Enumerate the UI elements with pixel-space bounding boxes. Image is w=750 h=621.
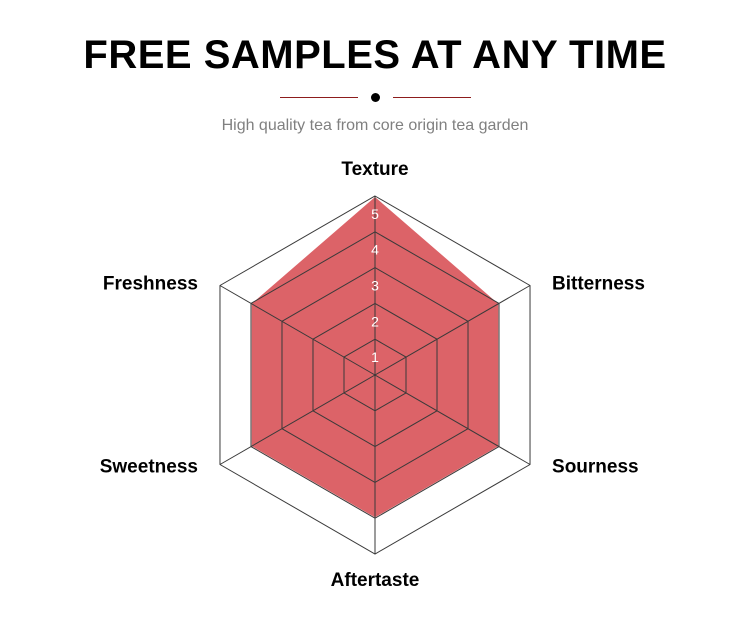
radar-chart-container: 12345 TextureBitternessSournessAftertast… [0,150,750,621]
radar-axis-label-texture: Texture [341,159,408,180]
radar-axis-label-freshness: Freshness [103,274,198,295]
page-root: FREE SAMPLES AT ANY TIME High quality te… [0,0,750,621]
title-divider [0,90,750,104]
divider-dot-icon [371,93,380,102]
radar-chart: 12345 TextureBitternessSournessAftertast… [0,150,750,621]
page-subtitle: High quality tea from core origin tea ga… [0,117,750,135]
divider-line-right [393,97,471,98]
radar-axis-label-sourness: Sourness [552,457,639,478]
radar-tick-2: 2 [371,313,379,329]
radar-axis-label-aftertaste: Aftertaste [331,570,420,591]
header: FREE SAMPLES AT ANY TIME High quality te… [0,0,750,135]
radar-tick-5: 5 [371,206,379,222]
radar-tick-1: 1 [371,349,379,365]
radar-axis-label-bitterness: Bitterness [552,274,645,295]
divider-line-left [280,97,358,98]
page-title: FREE SAMPLES AT ANY TIME [0,34,750,76]
radar-tick-3: 3 [371,278,379,294]
radar-tick-4: 4 [371,242,379,258]
radar-axis-label-sweetness: Sweetness [100,457,198,478]
